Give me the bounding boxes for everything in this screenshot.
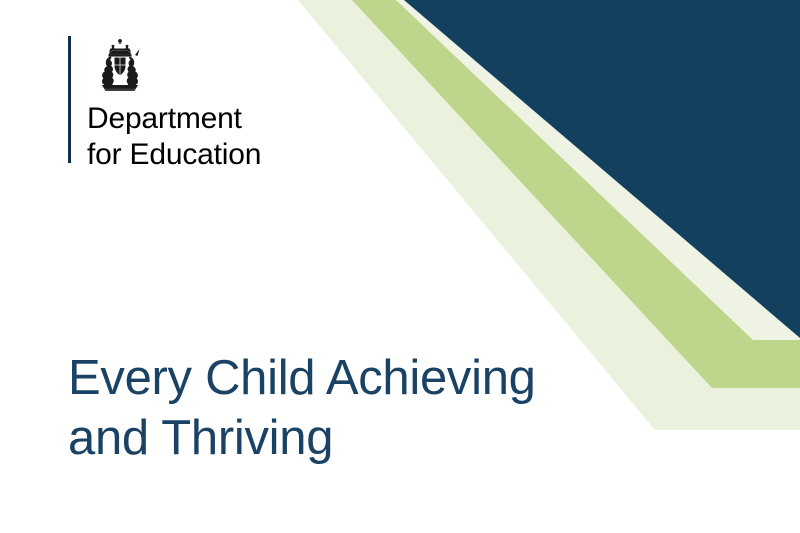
decoration-band-navy	[404, 0, 800, 338]
logo-content: Department for Education	[87, 36, 261, 173]
publication-cover: Department for Education Every Child Ach…	[0, 0, 800, 533]
decoration-band-inner-pale-green	[396, 0, 800, 340]
dfe-logo-text: Department for Education	[87, 101, 261, 173]
royal-coat-of-arms-icon	[89, 37, 151, 93]
dfe-logo: Department for Education	[68, 36, 261, 173]
logo-vertical-rule	[68, 36, 71, 163]
decoration-band-mid-green	[352, 0, 800, 388]
page-title: Every Child Achieving and Thriving	[68, 348, 668, 468]
